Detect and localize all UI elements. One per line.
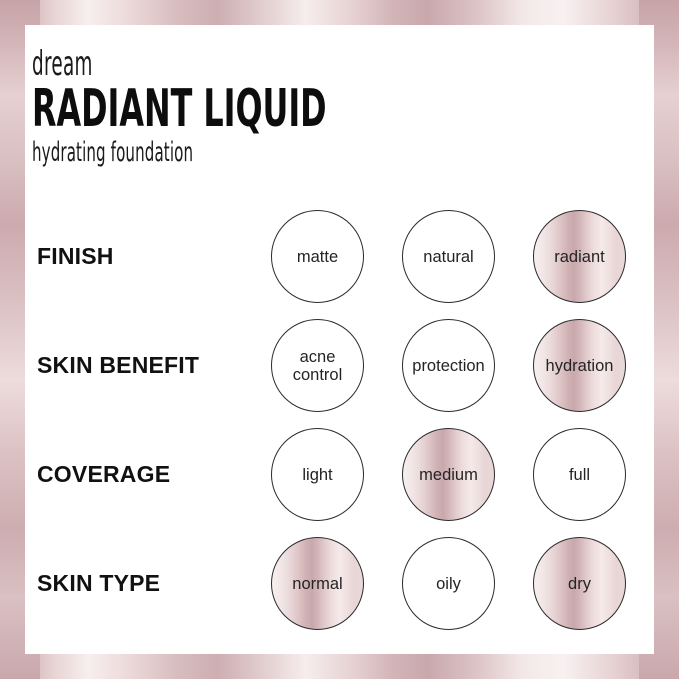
content-card: dream RADIANT LIQUID hydrating foundatio…	[25, 25, 654, 654]
option-label-line1: radiant	[554, 248, 604, 266]
option-label: medium	[419, 466, 478, 484]
attribute-options: lightmediumfull	[252, 428, 654, 521]
option-label-line1: full	[569, 466, 590, 484]
attribute-row: COVERAGElightmediumfull	[25, 420, 654, 529]
title-block: dream RADIANT LIQUID hydrating foundatio…	[32, 47, 465, 166]
attribute-options: mattenaturalradiant	[252, 210, 654, 303]
attribute-label: FINISH	[25, 243, 252, 270]
option-bubble[interactable]: acnecontrol	[271, 319, 364, 412]
option-bubble[interactable]: light	[271, 428, 364, 521]
option-label-line1: hydration	[546, 357, 614, 375]
option-label-line1: dry	[568, 575, 591, 593]
product-infographic: dream RADIANT LIQUID hydrating foundatio…	[0, 0, 679, 679]
attribute-label: SKIN BENEFIT	[25, 352, 252, 379]
attribute-options: acnecontrolprotectionhydration	[252, 319, 654, 412]
option-bubble-selected[interactable]: medium	[402, 428, 495, 521]
option-cell: normal	[252, 537, 383, 630]
option-label-line2: control	[293, 366, 343, 384]
option-cell: matte	[252, 210, 383, 303]
option-cell: medium	[383, 428, 514, 521]
option-label-line1: medium	[419, 466, 478, 484]
product-subtitle: hydrating foundation	[32, 139, 301, 166]
option-cell: protection	[383, 319, 514, 412]
option-cell: dry	[514, 537, 645, 630]
option-label-line1: oily	[436, 575, 461, 593]
option-label: protection	[412, 357, 484, 375]
option-label-line1: light	[302, 466, 332, 484]
option-label: oily	[436, 575, 461, 593]
attribute-row: SKIN BENEFITacnecontrolprotectionhydrati…	[25, 311, 654, 420]
option-label: acnecontrol	[293, 348, 343, 384]
option-cell: oily	[383, 537, 514, 630]
option-label-line1: normal	[292, 575, 342, 593]
option-cell: acnecontrol	[252, 319, 383, 412]
option-cell: light	[252, 428, 383, 521]
option-label-line1: acne	[293, 348, 343, 366]
attribute-row: FINISHmattenaturalradiant	[25, 202, 654, 311]
option-bubble-selected[interactable]: hydration	[533, 319, 626, 412]
option-label: light	[302, 466, 332, 484]
option-cell: natural	[383, 210, 514, 303]
option-label: dry	[568, 575, 591, 593]
attribute-label: SKIN TYPE	[25, 570, 252, 597]
attribute-options: normaloilydry	[252, 537, 654, 630]
option-label-line1: protection	[412, 357, 484, 375]
option-cell: full	[514, 428, 645, 521]
option-bubble[interactable]: oily	[402, 537, 495, 630]
product-title: RADIANT LIQUID	[32, 84, 327, 134]
option-bubble[interactable]: natural	[402, 210, 495, 303]
option-bubble-selected[interactable]: dry	[533, 537, 626, 630]
option-bubble-selected[interactable]: normal	[271, 537, 364, 630]
attribute-grid: FINISHmattenaturalradiantSKIN BENEFITacn…	[25, 202, 654, 638]
option-label: radiant	[554, 248, 604, 266]
option-label-line1: natural	[423, 248, 473, 266]
option-label: natural	[423, 248, 473, 266]
option-bubble[interactable]: protection	[402, 319, 495, 412]
brand-name: dream	[32, 47, 292, 81]
option-label: normal	[292, 575, 342, 593]
attribute-label: COVERAGE	[25, 461, 252, 488]
option-cell: radiant	[514, 210, 645, 303]
option-bubble-selected[interactable]: radiant	[533, 210, 626, 303]
option-label: hydration	[546, 357, 614, 375]
option-label-line1: matte	[297, 248, 338, 266]
option-bubble[interactable]: matte	[271, 210, 364, 303]
option-label: matte	[297, 248, 338, 266]
attribute-row: SKIN TYPEnormaloilydry	[25, 529, 654, 638]
option-label: full	[569, 466, 590, 484]
option-bubble[interactable]: full	[533, 428, 626, 521]
option-cell: hydration	[514, 319, 645, 412]
